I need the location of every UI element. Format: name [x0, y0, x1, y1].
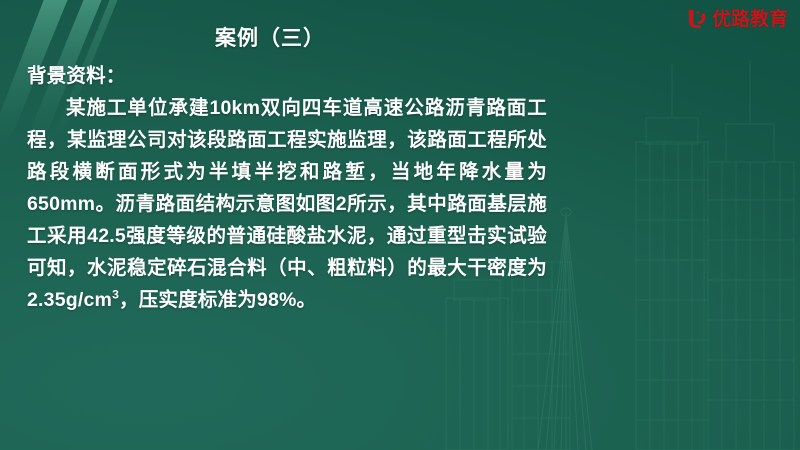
background-paragraph: 某施工单位承建10km双向四车道高速公路沥青路面工程，某监理公司对该段路面工程实… [27, 92, 547, 316]
paragraph-superscript: 3 [112, 288, 119, 302]
paragraph-prefix: 某施工单位承建10km双向四车道高速公路沥青路面工程，某监理公司对该段路面工程实… [27, 97, 547, 311]
youlu-l-mark [686, 8, 708, 30]
page-title: 案例（三） [0, 22, 540, 52]
brand-logo-text: 优路教育 [712, 10, 788, 29]
slide-canvas: 优路教育 案例（三） 背景资料： 某施工单位承建10km双向四车道高速公路沥青路… [0, 0, 800, 450]
background-heading: 背景资料： [27, 60, 547, 92]
body-text: 背景资料： 某施工单位承建10km双向四车道高速公路沥青路面工程，某监理公司对该… [27, 60, 547, 316]
paragraph-suffix: ，压实度标准为98%。 [119, 289, 316, 311]
brand-logo: 优路教育 [686, 6, 788, 32]
